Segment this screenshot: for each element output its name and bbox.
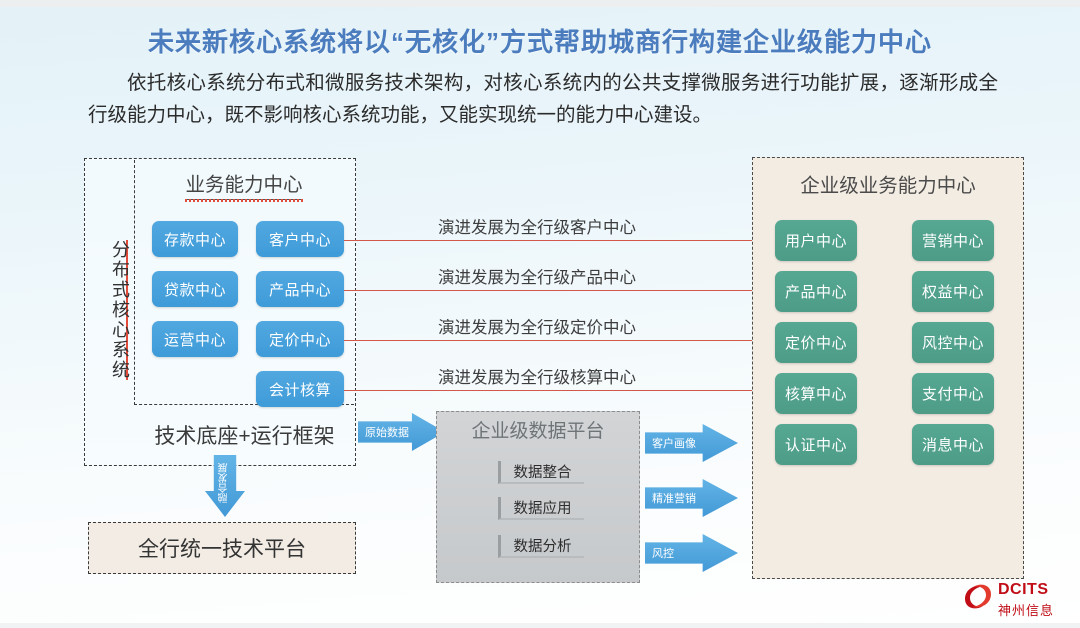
ent-box-riskcontrol[interactable]: 风控中心 — [912, 322, 994, 363]
ent-box-auth[interactable]: 认证中心 — [775, 424, 857, 465]
ent-box-rights-label: 权益中心 — [922, 281, 984, 302]
data-platform-item-integration[interactable]: 数据整合 — [498, 461, 584, 484]
core-system-vertical-label: 分布式核心系统 — [86, 215, 130, 405]
core-box-deposit[interactable]: 存款中心 — [152, 221, 238, 257]
evolution-label-product: 演进发展为全行级产品中心 — [438, 264, 636, 288]
core-box-product-label: 产品中心 — [269, 279, 331, 300]
page-title: 未来新核心系统将以“无核化”方式帮助城商行构建企业级能力中心 — [0, 22, 1080, 59]
output-arrow-risk-control: 风控 — [645, 534, 738, 572]
evolution-label-customer: 演进发展为全行级客户中心 — [438, 214, 636, 238]
ent-box-user-label: 用户中心 — [785, 230, 847, 251]
core-box-deposit-label: 存款中心 — [164, 229, 226, 250]
core-box-customer[interactable]: 客户中心 — [256, 221, 344, 257]
company-logo: DCITS 神州信息 — [962, 580, 1070, 622]
business-center-title-text: 业务能力中心 — [185, 168, 302, 200]
logo-english-text: DCITS — [998, 581, 1049, 599]
page-subtitle: 依托核心系统分布式和微服务技术架构，对核心系统内的公共支撑微服务进行功能扩展，逐… — [88, 68, 998, 131]
ent-box-accounting[interactable]: 核算中心 — [775, 373, 857, 414]
ent-box-product[interactable]: 产品中心 — [775, 271, 857, 312]
business-center-title: 业务能力中心 — [134, 168, 354, 200]
logo-chinese-text: 神州信息 — [998, 600, 1054, 619]
enterprise-panel-title: 企业级业务能力中心 — [752, 169, 1024, 198]
evolution-line-pricing — [344, 340, 762, 341]
ent-box-payment[interactable]: 支付中心 — [912, 373, 994, 414]
core-box-pricing-label: 定价中心 — [269, 329, 331, 350]
data-platform-title: 企业级数据平台 — [436, 416, 640, 443]
slide-canvas: 未来新核心系统将以“无核化”方式帮助城商行构建企业级能力中心 依托核心系统分布式… — [0, 0, 1080, 628]
ent-box-accounting-label: 核算中心 — [785, 383, 847, 404]
output-arrow-customer-profile: 客户画像 — [645, 424, 738, 462]
core-box-accounting[interactable]: 会计核算 — [256, 371, 344, 407]
core-system-vertical-text: 分布式核心系统 — [110, 240, 130, 380]
tech-base-label: 技术底座+运行框架 — [134, 406, 355, 464]
raw-data-arrow: 原始数据 — [358, 413, 445, 451]
ent-box-rights[interactable]: 权益中心 — [912, 271, 994, 312]
ent-box-user[interactable]: 用户中心 — [775, 220, 857, 261]
core-box-loan-label: 贷款中心 — [164, 279, 226, 300]
evolution-line-accounting — [344, 390, 762, 391]
core-box-pricing[interactable]: 定价中心 — [256, 321, 344, 357]
core-box-accounting-label: 会计核算 — [269, 379, 331, 400]
output-arrow-precision-marketing-label: 精准营销 — [652, 490, 696, 506]
evolution-line-customer — [344, 240, 762, 241]
evolution-label-pricing: 演进发展为全行级定价中心 — [438, 314, 636, 338]
output-arrow-risk-control-label: 风控 — [652, 545, 674, 561]
ent-box-marketing[interactable]: 营销中心 — [912, 220, 994, 261]
data-platform-item-analysis[interactable]: 数据分析 — [498, 535, 584, 558]
convergence-down-arrow-label: 融合发展 — [220, 463, 230, 503]
unified-platform-box[interactable]: 全行统一技术平台 — [88, 522, 356, 574]
ent-box-message[interactable]: 消息中心 — [912, 424, 994, 465]
ent-box-pricing[interactable]: 定价中心 — [775, 322, 857, 363]
ent-box-pricing-label: 定价中心 — [785, 332, 847, 353]
data-platform-item-application[interactable]: 数据应用 — [498, 497, 584, 520]
core-box-operation-label: 运营中心 — [164, 329, 226, 350]
ent-box-riskcontrol-label: 风控中心 — [922, 332, 984, 353]
top-edge-strip — [0, 0, 1080, 7]
dcits-swirl-icon — [962, 582, 994, 612]
output-arrow-precision-marketing: 精准营销 — [645, 479, 738, 517]
ent-box-message-label: 消息中心 — [922, 434, 984, 455]
unified-platform-label: 全行统一技术平台 — [138, 533, 306, 563]
evolution-line-product — [344, 290, 762, 291]
raw-data-arrow-label: 原始数据 — [365, 424, 409, 440]
ent-box-auth-label: 认证中心 — [785, 434, 847, 455]
core-box-operation[interactable]: 运营中心 — [152, 321, 238, 357]
core-box-loan[interactable]: 贷款中心 — [152, 271, 238, 307]
ent-box-product-label: 产品中心 — [785, 281, 847, 302]
evolution-label-accounting: 演进发展为全行级核算中心 — [438, 364, 636, 388]
core-box-customer-label: 客户中心 — [269, 229, 331, 250]
bottom-edge-strip — [0, 623, 1080, 628]
ent-box-marketing-label: 营销中心 — [922, 230, 984, 251]
output-arrow-customer-profile-label: 客户画像 — [652, 435, 696, 451]
ent-box-payment-label: 支付中心 — [922, 383, 984, 404]
core-box-product[interactable]: 产品中心 — [256, 271, 344, 307]
